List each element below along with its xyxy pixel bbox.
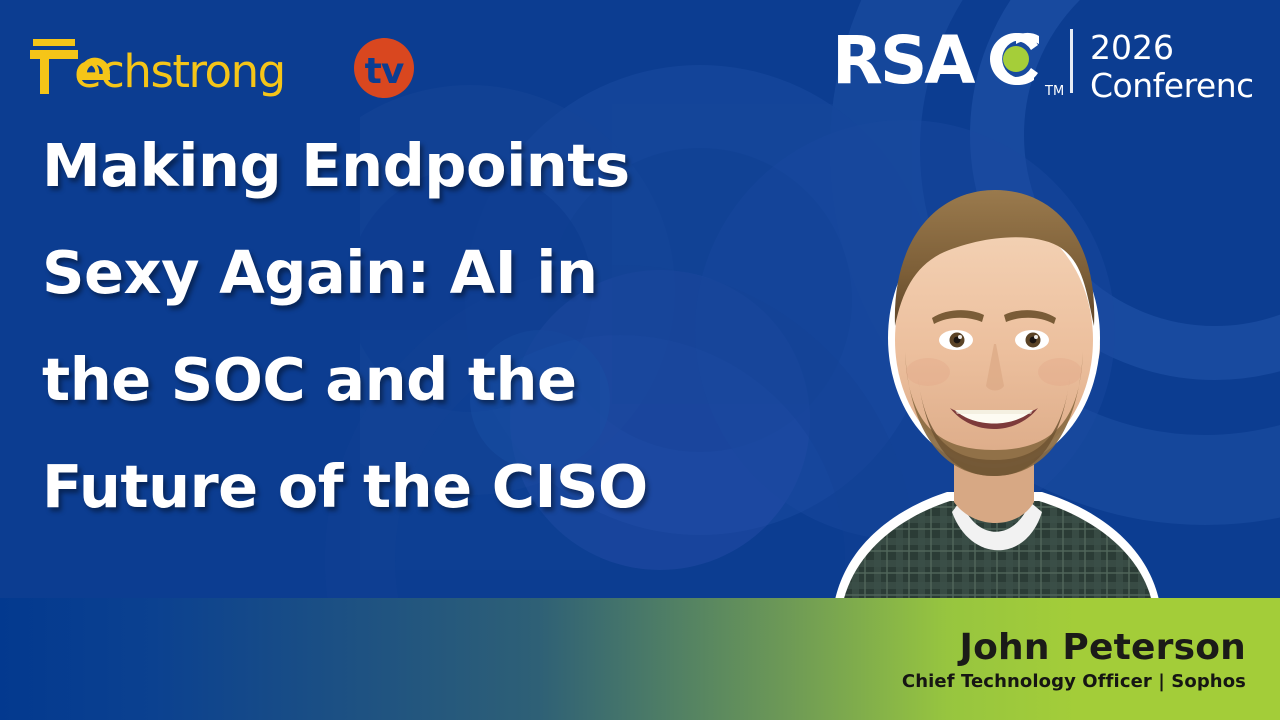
techstrong-wordmark-icon: echstrong xyxy=(30,37,350,101)
page-title: Making Endpoints Sexy Again: AI in the S… xyxy=(42,112,782,540)
rsac-accent-dot-icon xyxy=(1003,46,1029,72)
headline-line-3: the SOC and the xyxy=(42,326,782,433)
speaker-name-bar: John Peterson Chief Technology Officer |… xyxy=(0,598,1280,720)
rsac-logo-icon: RSA TM 2026 Conference xyxy=(832,21,1252,107)
speaker-name: John Peterson xyxy=(902,628,1246,668)
svg-text:Conference: Conference xyxy=(1090,66,1252,105)
techstrong-tv-logo[interactable]: echstrong tv Techstrong tv xyxy=(30,38,424,100)
headline-line-4: Future of the CISO xyxy=(42,433,782,540)
svg-text:RSA: RSA xyxy=(832,22,975,99)
headline-line-2: Sexy Again: AI in xyxy=(42,219,782,326)
speaker-info: John Peterson Chief Technology Officer |… xyxy=(902,628,1246,694)
svg-text:tv: tv xyxy=(365,51,404,92)
headline-line-1: Making Endpoints xyxy=(42,112,782,219)
svg-text:echstrong: echstrong xyxy=(74,45,285,98)
trademark-mark: TM xyxy=(1044,84,1064,99)
speaker-photo: John Peterson headshot xyxy=(742,120,1242,620)
rsac-divider xyxy=(1070,29,1073,93)
speaker-title: Chief Technology Officer | Sophos xyxy=(902,670,1246,694)
title-card: echstrong tv Techstrong tv RSA TM 2 xyxy=(0,0,1280,720)
tv-badge-icon: tv xyxy=(344,37,424,101)
svg-text:2026: 2026 xyxy=(1090,28,1174,67)
rsac-conference-logo[interactable]: RSA TM 2026 Conference RSAC 2026 Confere… xyxy=(832,22,1252,106)
